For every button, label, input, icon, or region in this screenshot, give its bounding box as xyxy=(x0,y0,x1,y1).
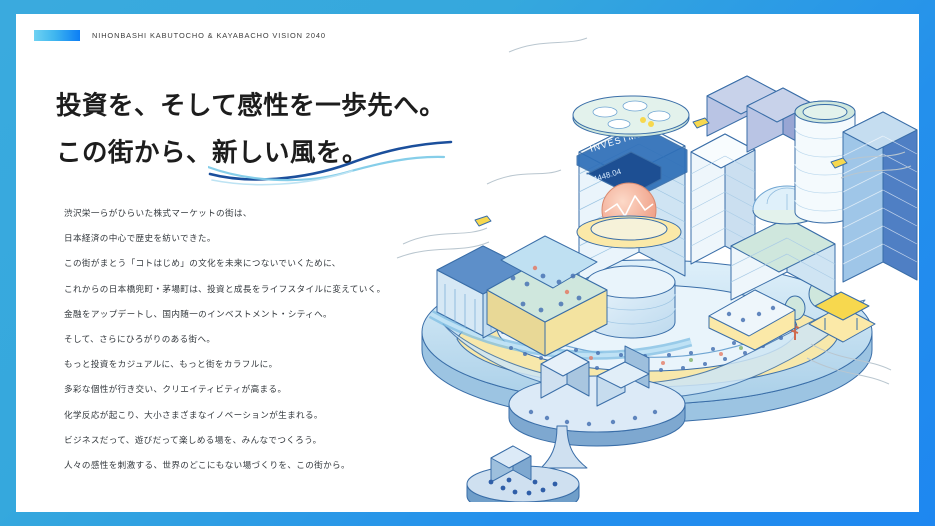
body-copy: 渋沢栄一らがひらいた株式マーケットの街は、 日本経済の中心で歴史を紡いできた。 … xyxy=(64,209,394,486)
poster-page: NIHONBASHI KABUTOCHO & KAYABACHO VISION … xyxy=(0,0,935,526)
body-line: 人々の感性を刺激する、世界のどこにもない場づくりを、この街から。 xyxy=(64,461,394,470)
header-title: NIHONBASHI KABUTOCHO & KAYABACHO VISION … xyxy=(92,31,326,40)
body-line: 日本経済の中心で歴史を紡いできた。 xyxy=(64,234,394,243)
body-line: 多彩な個性が行き交い、クリエイティビティが高まる。 xyxy=(64,385,394,394)
body-line: 金融をアップデートし、国内随一のインベストメント・シティへ。 xyxy=(64,310,394,319)
body-line: この街がまとう「コトはじめ」の文化を未来につないでいくために、 xyxy=(64,259,394,268)
blue-glass-highrise xyxy=(843,112,917,282)
body-line: これからの日本橋兜町・茅場町は、投資と成長をライフスタイルに変えていく。 xyxy=(64,285,394,294)
body-line: そして、さらにひろがりのある街へ。 xyxy=(64,335,394,344)
header: NIHONBASHI KABUTOCHO & KAYABACHO VISION … xyxy=(34,30,326,41)
body-line: 化学反応が起こり、大小さまざまなイノベーションが生まれる。 xyxy=(64,411,394,420)
body-line: 渋沢栄一らがひらいた株式マーケットの街は、 xyxy=(64,209,394,218)
poster-sheet: NIHONBASHI KABUTOCHO & KAYABACHO VISION … xyxy=(16,14,919,512)
isometric-city-illustration: INVESTMENT CITY 4448.04 xyxy=(391,32,919,502)
header-accent-bar xyxy=(34,30,80,41)
body-line: ビジネスだって、遊びだって楽しめる場を、みんなでつくろう。 xyxy=(64,436,394,445)
body-line: もっと投資をカジュアルに、もっと街をカラフルに。 xyxy=(64,360,394,369)
